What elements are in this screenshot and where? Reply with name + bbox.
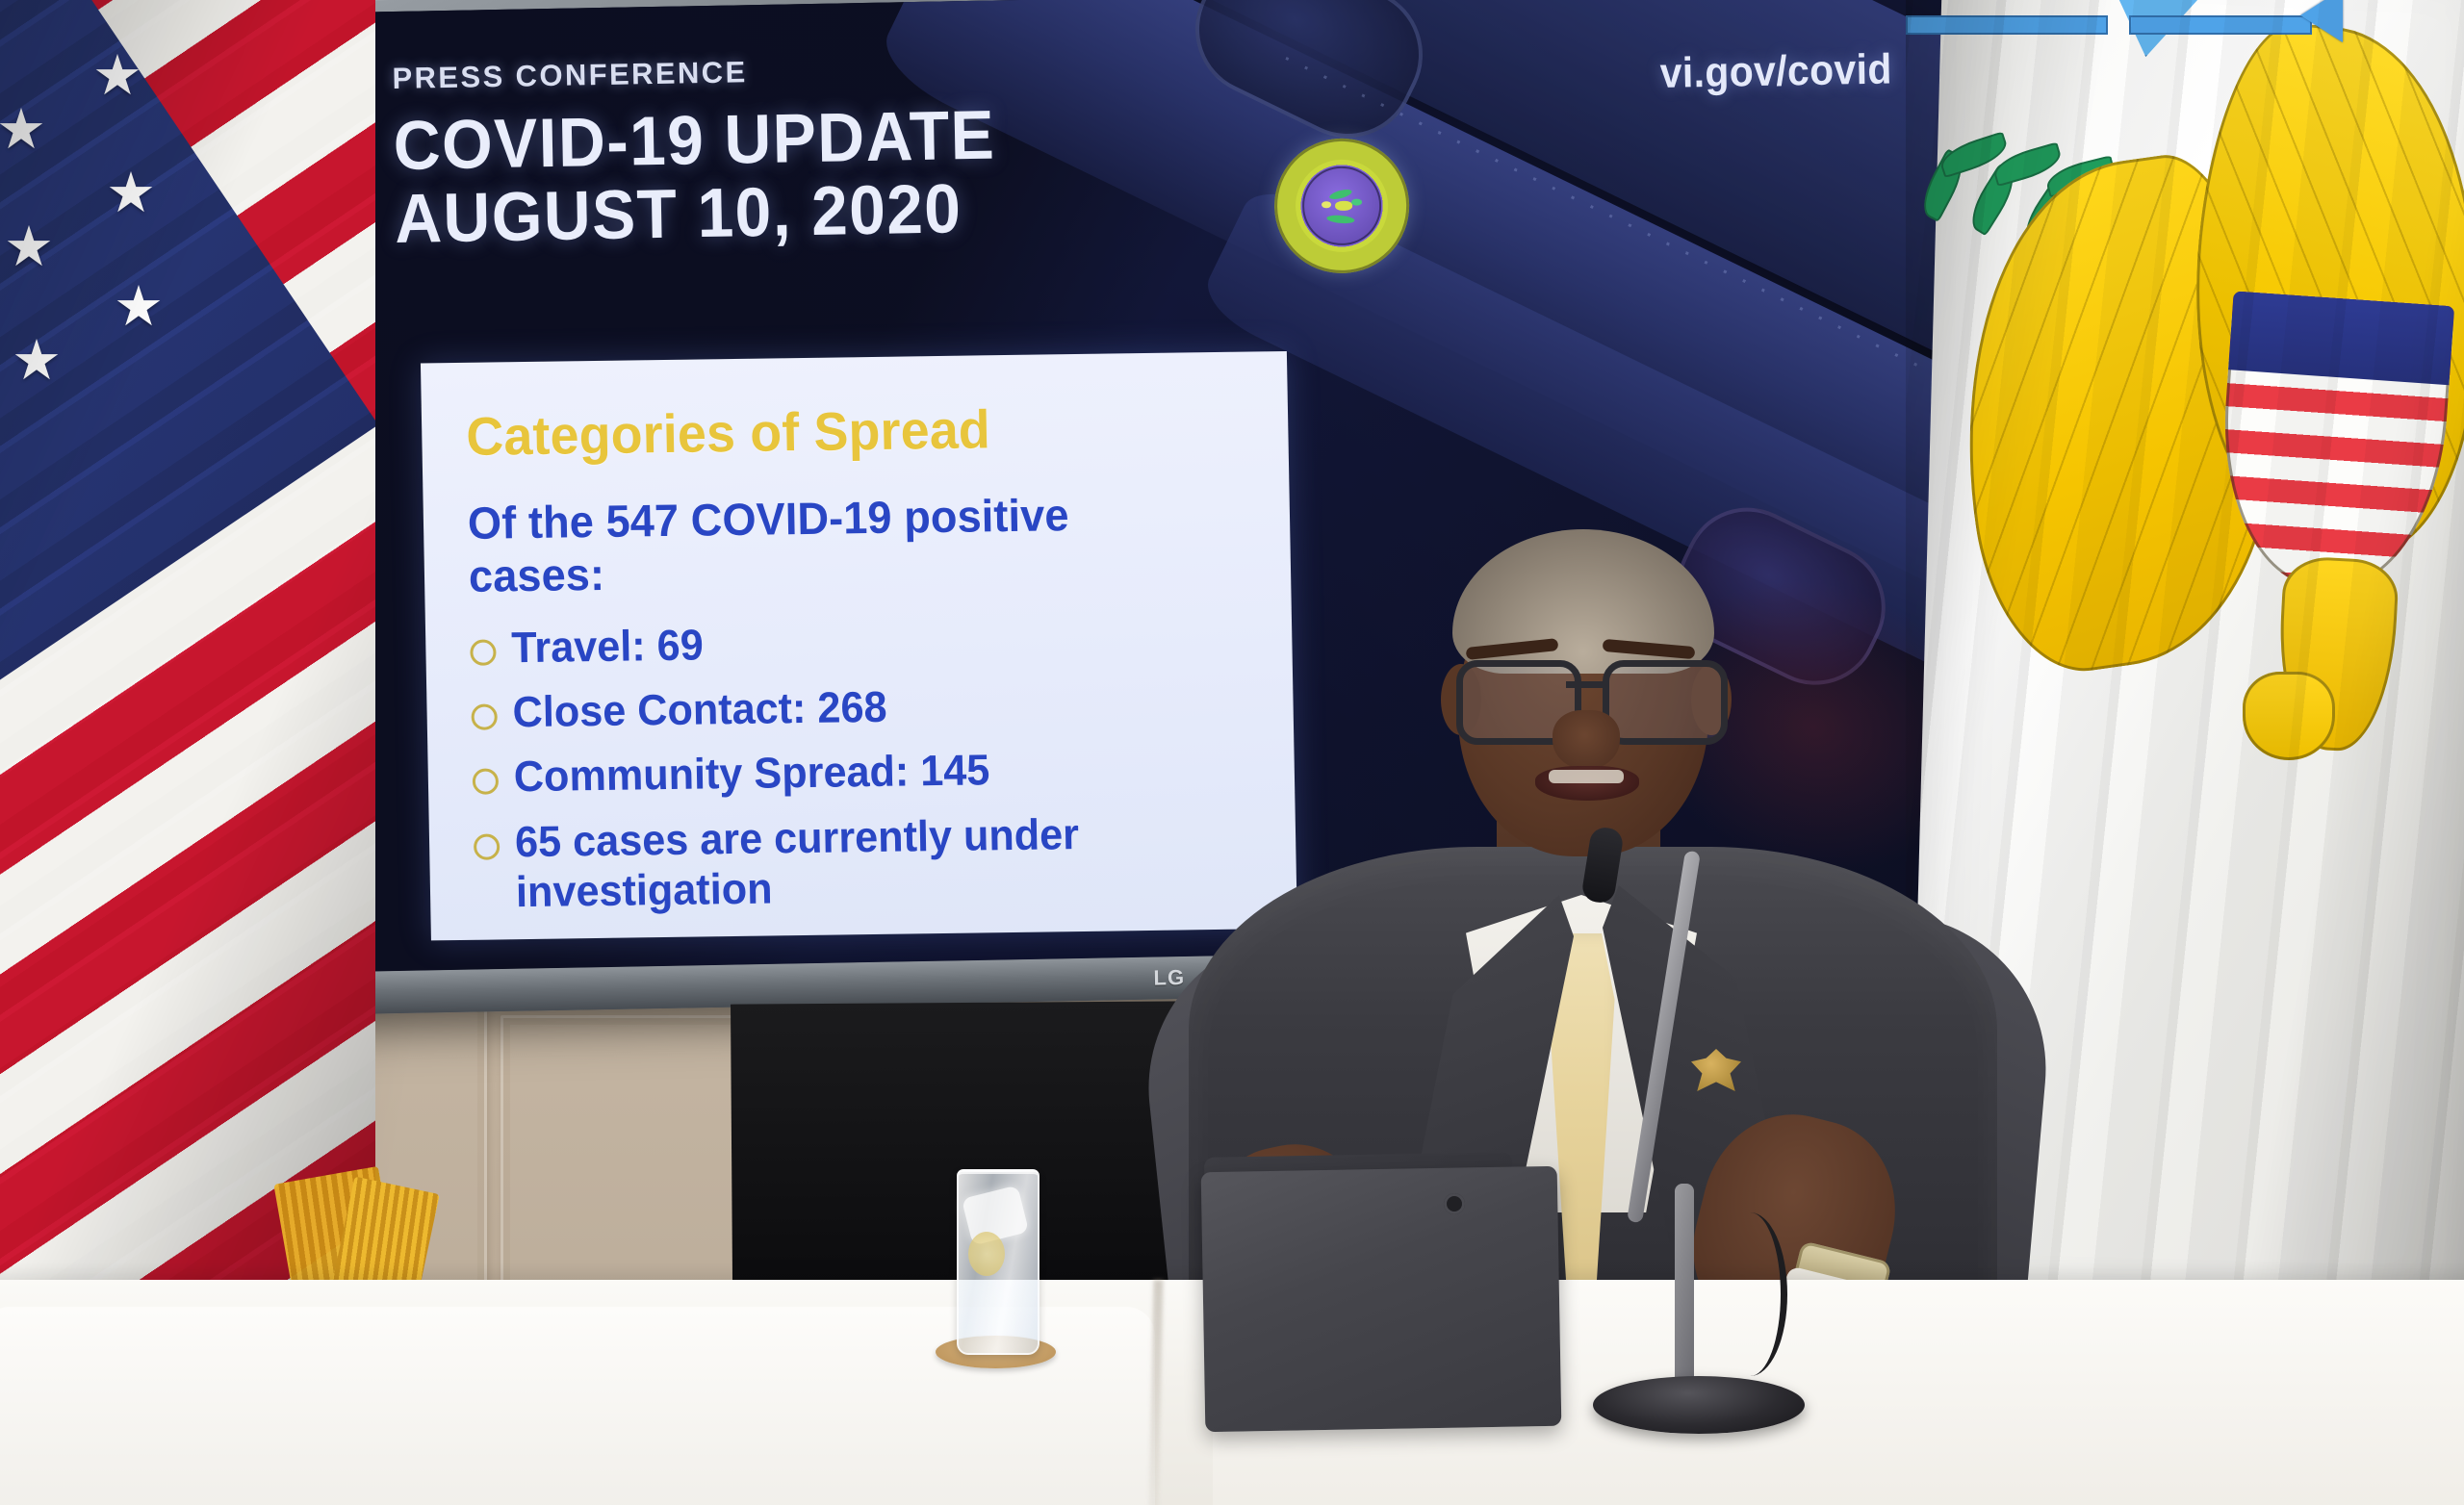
tablet-device[interactable] (1201, 1166, 1562, 1432)
slide-content-card: Categories of Spread Of the 547 COVID-19… (421, 351, 1297, 940)
bullet-label: Close Contact: 268 (512, 682, 887, 738)
bullet-item-under-investigation: 65 cases are currently under investigati… (474, 806, 1253, 918)
seal-flora-right-icon (1351, 199, 1362, 206)
slide-header: PRESS CONFERENCE COVID-19 UPDATE AUGUST … (392, 50, 1036, 257)
bullet-label: Travel: 69 (511, 620, 704, 673)
teeth (1549, 770, 1624, 783)
tablet-camera-icon (1444, 1193, 1465, 1214)
lg-brand-logo: LG (1153, 965, 1185, 991)
bullet-label: Community Spread: 145 (513, 746, 989, 803)
bullet-item-travel: Travel: 69 (470, 613, 1248, 674)
bullet-label: 65 cases are currently under investigati… (515, 808, 1154, 918)
nose (1553, 710, 1620, 770)
bullet-circle-icon (471, 704, 497, 730)
seal-island-south-icon (1326, 214, 1355, 224)
bullet-circle-icon (470, 639, 496, 665)
eyeglass-lens-right (1603, 660, 1728, 745)
bullet-item-community-spread: Community Spread: 145 (472, 742, 1250, 803)
lemon-slice (968, 1232, 1005, 1276)
microphone-stem[interactable] (1675, 1184, 1694, 1390)
card-lead-text: Of the 547 COVID-19 positive cases: (467, 486, 1216, 602)
photo-scene: PRESS CONFERENCE COVID-19 UPDATE AUGUST … (0, 0, 2464, 1505)
bullet-circle-icon (474, 833, 500, 859)
seal-flora-left-icon (1322, 201, 1331, 208)
slide-title-line-2: AUGUST 10, 2020 (395, 172, 998, 257)
slide-title-line-1: COVID-19 UPDATE (393, 99, 996, 184)
us-flag-shading (0, 0, 375, 1338)
bullet-circle-icon (473, 769, 499, 795)
seal-bird-icon (1336, 201, 1353, 211)
microphone-cable (1713, 1212, 1787, 1376)
united-states-flag: ★ ★ ★ ★ ★ ★ (0, 0, 375, 1338)
eyeglass-bridge (1566, 681, 1606, 688)
microphone-base[interactable] (1593, 1376, 1805, 1434)
slide-url: vi.gov/covid (1659, 45, 1892, 97)
bullet-item-close-contact: Close Contact: 268 (471, 677, 1249, 738)
seal-island-north-icon (1328, 188, 1353, 201)
seal-inner-field (1302, 166, 1382, 246)
card-heading: Categories of Spread (466, 395, 1214, 468)
